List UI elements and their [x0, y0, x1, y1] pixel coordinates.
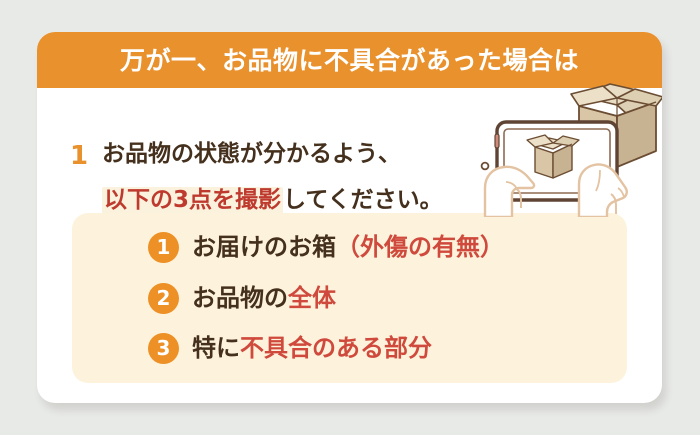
- list-item-1-emphasis: （外傷の有無）: [336, 233, 504, 261]
- list-item-2-emphasis: 全体: [288, 284, 336, 312]
- list-item: 1 お届けのお箱（外傷の有無）: [148, 230, 504, 264]
- list-item-text-3: 特に不具合のある部分: [192, 336, 432, 360]
- list-item-3-emphasis: 不具合のある部分: [240, 334, 432, 362]
- header-bar: 万が一、お品物に不具合があった場合は: [37, 32, 662, 88]
- step-tail-text: してください。: [283, 189, 443, 212]
- list-item-text-2: お品物の全体: [192, 286, 336, 310]
- list-item-2-plain: お品物の: [192, 284, 288, 312]
- step-number: 1: [70, 143, 88, 169]
- step-highlight-text: 以下の3点を撮影: [102, 187, 283, 215]
- header-title: 万が一、お品物に不具合があった場合は: [120, 48, 579, 73]
- list-item-3-plain: 特に: [192, 334, 240, 362]
- step-block: 1 お品物の状態が分かるよう、 以下の3点を撮影してください。: [37, 88, 662, 213]
- photo-checklist-panel: 1 お届けのお箱（外傷の有無） 2 お品物の全体 3 特に不具合のある部分: [72, 213, 627, 383]
- list-item: 3 特に不具合のある部分: [148, 331, 432, 365]
- info-card: 万が一、お品物に不具合があった場合は 1 お品物の状態が分かるよう、 以下の3点…: [37, 32, 662, 403]
- step-instruction-line-2: 以下の3点を撮影してください。: [102, 187, 443, 215]
- poster-canvas: 万が一、お品物に不具合があった場合は 1 お品物の状態が分かるよう、 以下の3点…: [0, 0, 700, 435]
- list-item: 2 お品物の全体: [148, 281, 336, 315]
- list-item-badge-3: 3: [148, 333, 179, 364]
- step-instruction-line-1: お品物の状態が分かるよう、: [102, 143, 401, 166]
- list-item-text-1: お届けのお箱（外傷の有無）: [192, 235, 504, 259]
- list-item-1-plain: お届けのお箱: [192, 233, 336, 261]
- list-item-badge-1: 1: [148, 232, 179, 263]
- list-item-badge-2: 2: [148, 283, 179, 314]
